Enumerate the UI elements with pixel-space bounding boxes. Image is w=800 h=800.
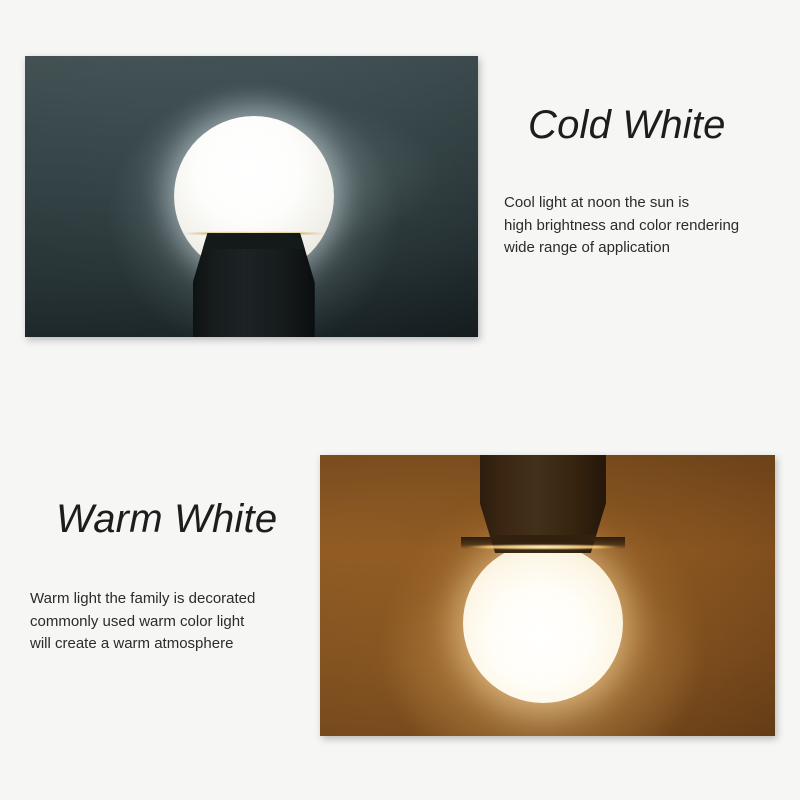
- warm-bulb-rim-light: [465, 545, 621, 549]
- warm-white-heading: Warm White: [30, 498, 330, 540]
- warm-white-description: Warm light the family is decorated commo…: [30, 588, 330, 656]
- cold-description-line-1: Cool light at noon the sun is: [504, 192, 794, 215]
- warm-white-photo: [320, 455, 775, 736]
- cold-description-line-3: wide range of application: [504, 237, 794, 260]
- cold-white-text-block: Cold White Cool light at noon the sun is…: [504, 104, 794, 260]
- product-feature-page: Cold White Cool light at noon the sun is…: [0, 0, 800, 800]
- warm-white-text-block: Warm White Warm light the family is deco…: [30, 498, 330, 656]
- cold-white-photo: [25, 56, 478, 337]
- warm-description-line-3: will create a warm atmosphere: [30, 633, 330, 656]
- warm-description-line-2: commonly used warm color light: [30, 611, 330, 634]
- cold-description-line-2: high brightness and color rendering: [504, 215, 794, 238]
- cold-white-heading: Cold White: [504, 104, 794, 146]
- warm-bulb-illustration: [463, 455, 623, 675]
- cold-white-description: Cool light at noon the sun is high brigh…: [504, 192, 794, 260]
- warm-description-line-1: Warm light the family is decorated: [30, 588, 330, 611]
- cold-bulb-base: [193, 233, 315, 337]
- cold-bulb-illustration: [174, 116, 334, 337]
- warm-bulb-globe-icon: [463, 543, 623, 703]
- warm-bulb-base: [480, 455, 606, 553]
